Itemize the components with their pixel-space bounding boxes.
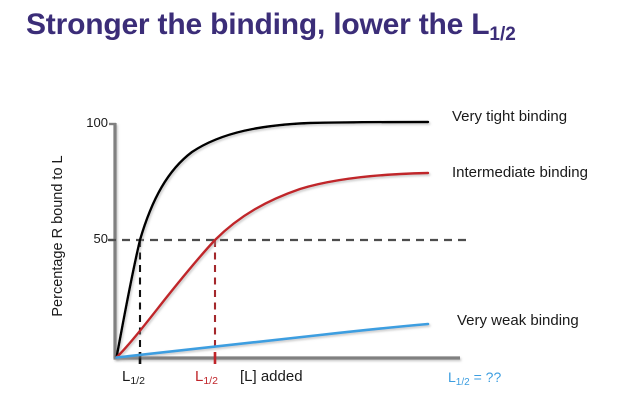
y-tick-label-100: 100 (82, 115, 108, 130)
binding-curve-figure: Percentage R bound to L 100 50 [L] added… (0, 60, 644, 414)
curve-very-weak-binding (117, 324, 429, 358)
x-tick-label-l-half-red: L1/2 (195, 368, 218, 385)
x-tick-label-l-half-black: L1/2 (122, 368, 145, 385)
annotation-very-weak-binding: Very weak binding (457, 312, 579, 329)
l-half-black-subscript: 1/2 (130, 375, 145, 387)
annotation-very-tight-binding: Very tight binding (452, 108, 567, 125)
annotation-intermediate-binding: Intermediate binding (452, 164, 588, 181)
curve-intermediate-binding (117, 173, 429, 358)
y-axis-label: Percentage R bound to L (50, 126, 66, 346)
l-half-blue-letter: L (448, 369, 456, 385)
page-title-text: Stronger the binding, lower the L (26, 8, 489, 41)
l-half-blue-value: = ?? (470, 369, 502, 385)
x-axis-label: [L] added (240, 368, 303, 385)
y-tick-label-50: 50 (82, 231, 108, 246)
l-half-blue-unknown-label: L1/2 = ?? (448, 369, 501, 385)
l-half-red-subscript: 1/2 (203, 375, 218, 387)
page-title-subscript: 1/2 (489, 24, 515, 45)
page-title: Stronger the binding, lower the L1/2 (26, 8, 626, 43)
l-half-blue-subscript: 1/2 (456, 377, 470, 388)
